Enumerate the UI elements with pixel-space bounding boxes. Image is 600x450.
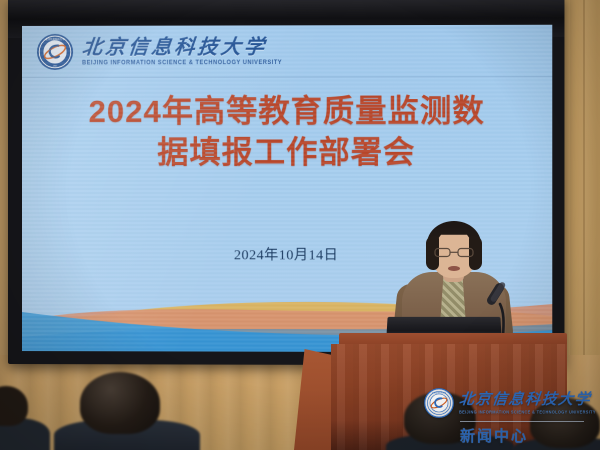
slide-university-names: 北京信息科技大学 BEIJING INFORMATION SCIENCE & T… (82, 37, 282, 66)
university-seal-icon: 北京信息科技大学 (424, 388, 454, 418)
watermark-university-name-en: BEIJING INFORMATION SCIENCE & TECHNOLOGY… (459, 410, 596, 415)
slide-header: 北京信息科技大学 1937 北京信息科技大学 BEIJING INFORMATI… (22, 25, 552, 78)
glasses-icon (433, 247, 475, 258)
slide-title: 2024年高等教育质量监测数 据填报工作部署会 (22, 91, 552, 174)
watermark-university-name-cn: 北京信息科技大学 (458, 393, 596, 408)
speaker-mouth (448, 266, 460, 271)
watermark-university-names: 北京信息科技大学 BEIJING INFORMATION SCIENCE & T… (459, 393, 596, 414)
photo-scene: 北京信息科技大学 1937 北京信息科技大学 BEIJING INFORMATI… (0, 0, 600, 450)
svg-text:1937: 1937 (53, 66, 57, 68)
watermark-main-row: 北京信息科技大学 北京信息科技大学 BEIJING INFORMATION SC… (424, 388, 596, 418)
news-center-watermark: 北京信息科技大学 北京信息科技大学 BEIJING INFORMATION SC… (424, 388, 594, 446)
university-seal-icon: 北京信息科技大学 1937 (36, 33, 74, 71)
slide-title-line-2: 据填报工作部署会 (22, 133, 552, 174)
slide-title-line-1: 2024年高等教育质量监测数 (89, 93, 485, 129)
watermark-department: 新闻中心 (460, 425, 528, 446)
slide-university-name-cn: 北京信息科技大学 (81, 37, 283, 57)
watermark-divider (460, 421, 584, 422)
slide-university-name-en: BEIJING INFORMATION SCIENCE & TECHNOLOGY… (82, 60, 282, 67)
svg-text:北京信息科技大学: 北京信息科技大学 (46, 37, 66, 41)
